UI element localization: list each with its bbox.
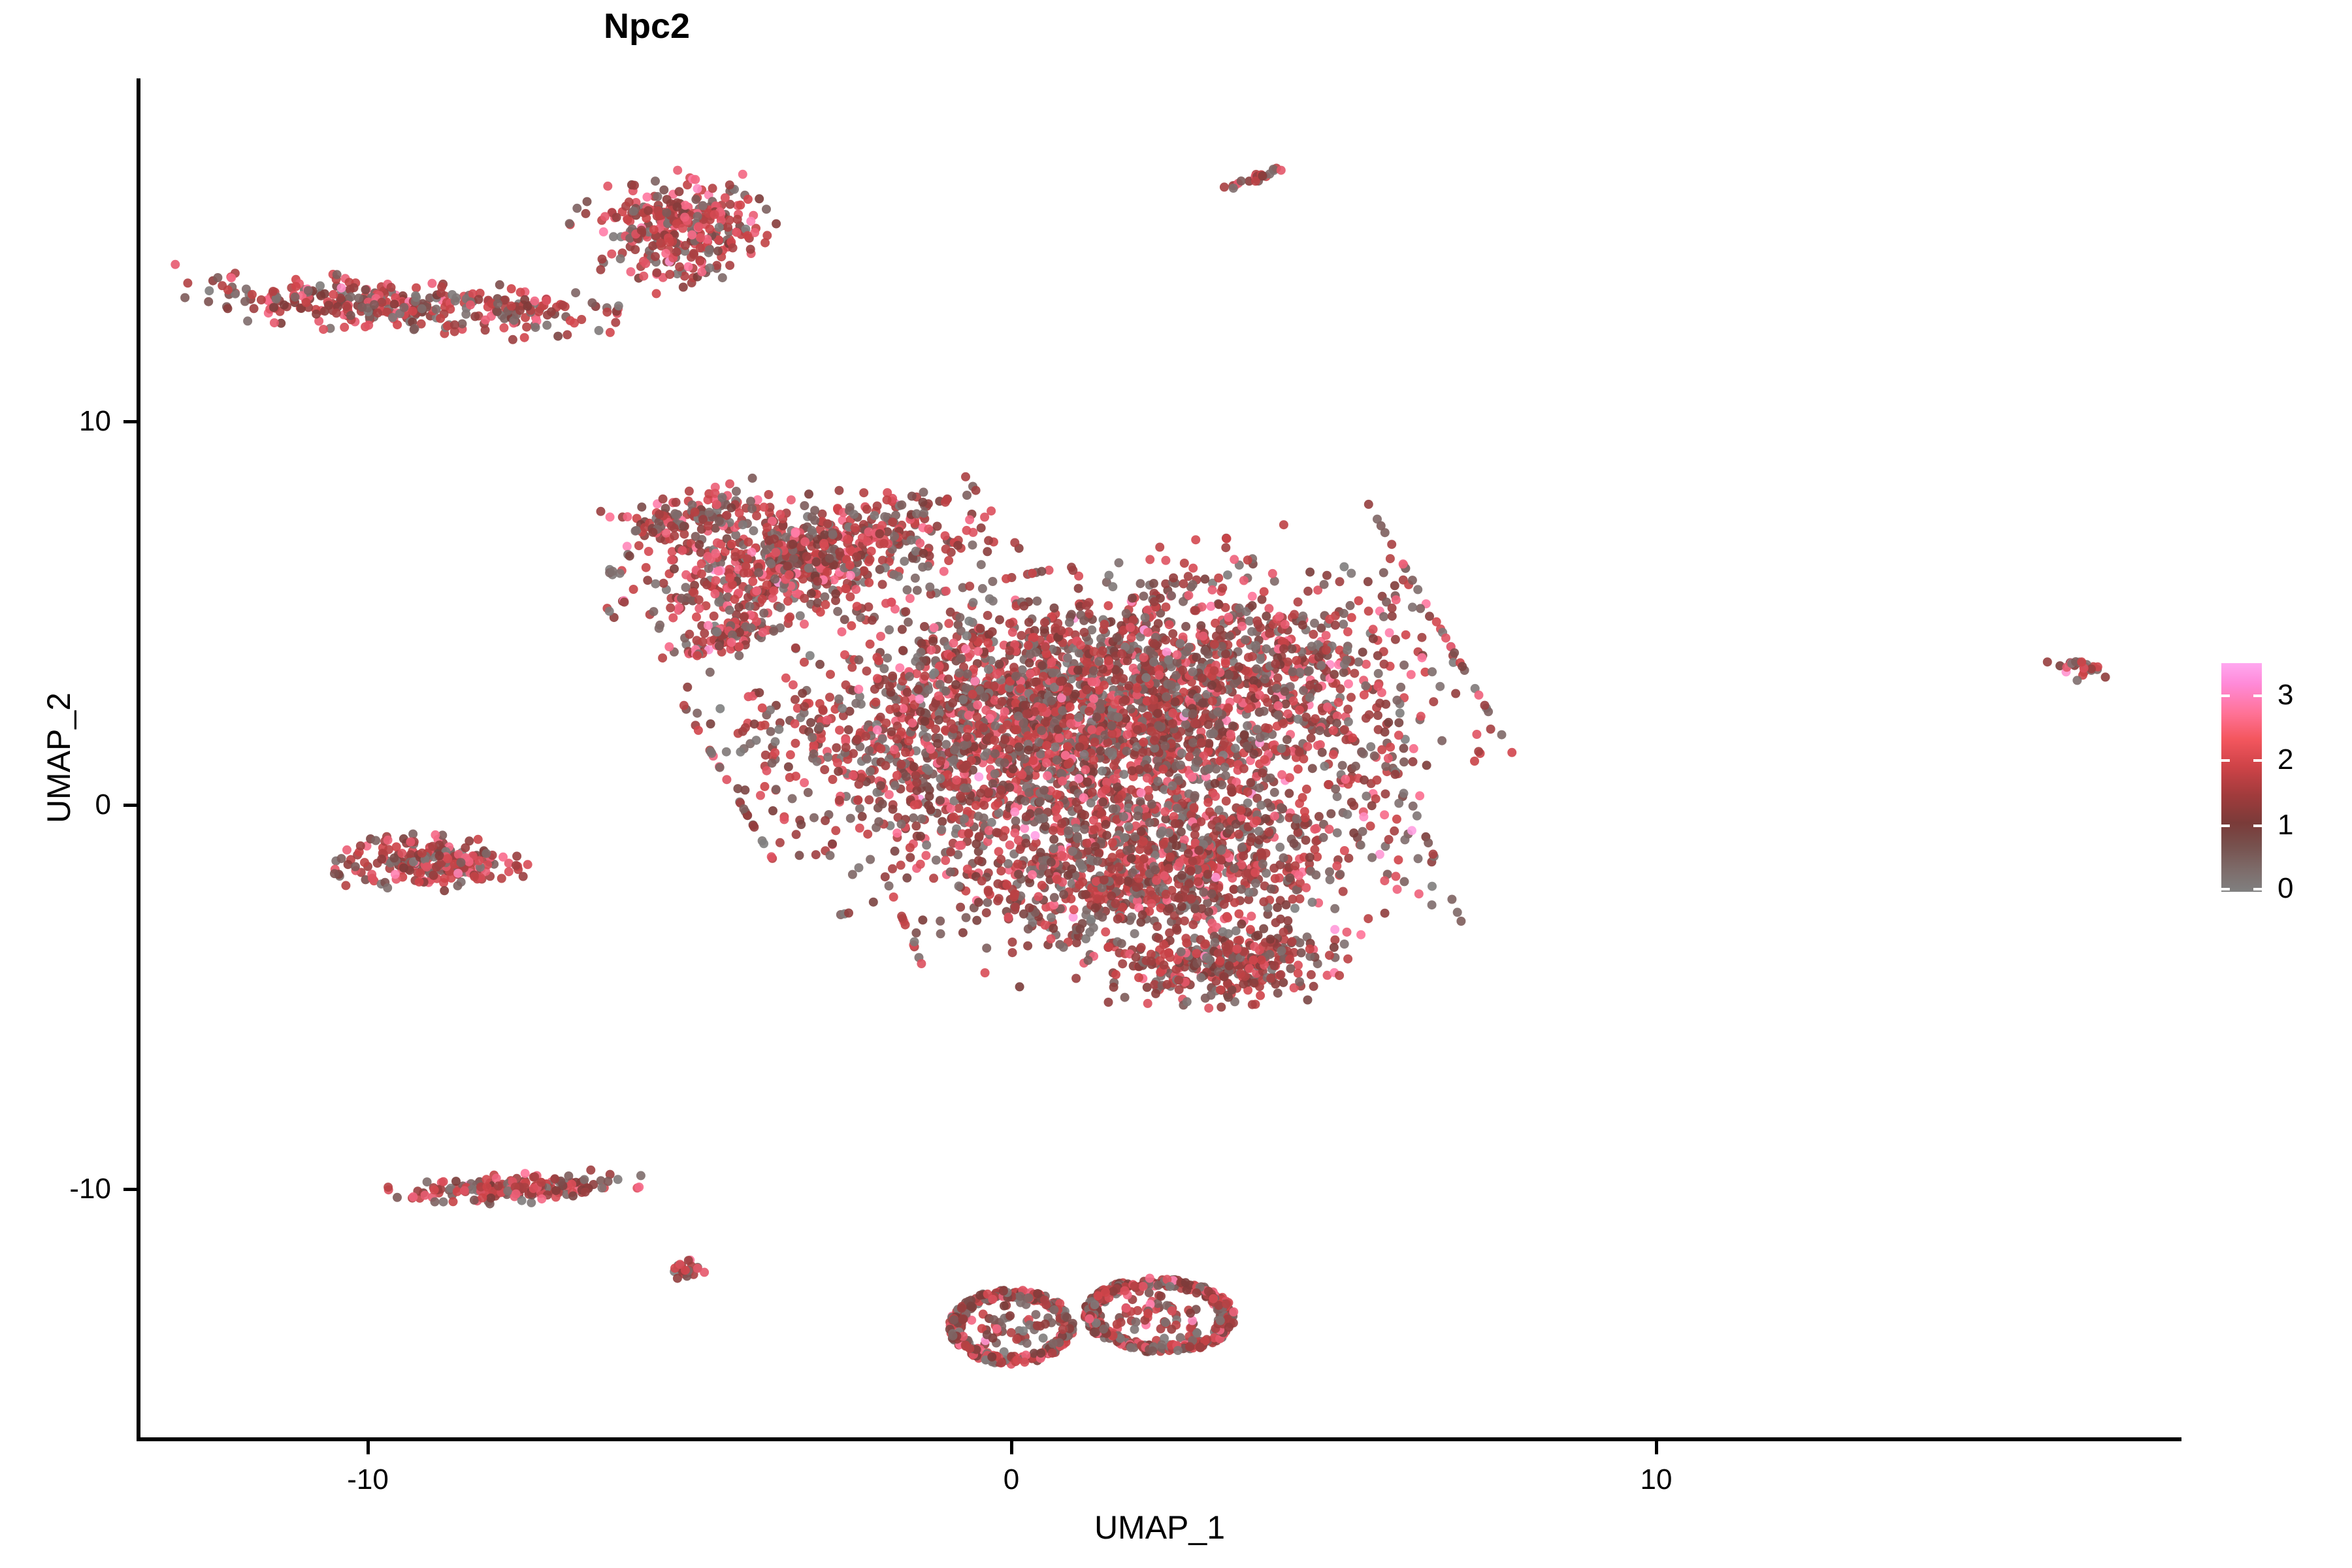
x-tick-label-0: 0 [913, 1465, 1109, 1494]
x-axis-line [137, 1437, 2181, 1441]
x-axis-title: UMAP_1 [140, 1509, 2179, 1546]
y-axis-title: UMAP_2 [41, 464, 77, 1052]
umap-feature-plot: Npc2 10 0 -10 -10 0 10 UMAP_1 UMAP_2 3 2… [0, 0, 2352, 1568]
legend-tick-2-left [2221, 759, 2230, 762]
y-tick-label-10: 10 [0, 407, 111, 436]
y-tick-mark--10 [123, 1188, 137, 1191]
y-tick-label--10: -10 [0, 1175, 111, 1203]
legend-label-2: 2 [2278, 745, 2293, 774]
legend-tick-0-right [2253, 888, 2262, 890]
x-tick-mark-0 [1010, 1441, 1013, 1454]
legend-label-3: 3 [2278, 681, 2293, 710]
legend-label-0: 0 [2278, 874, 2293, 903]
plot-panel [140, 78, 2179, 1441]
y-tick-mark-10 [123, 420, 137, 423]
legend-tick-3-right [2253, 694, 2262, 697]
legend-tick-3-left [2221, 694, 2230, 697]
x-tick-mark-10 [1655, 1441, 1658, 1454]
legend-tick-1-left [2221, 825, 2230, 827]
page-title: Npc2 [0, 7, 1823, 46]
legend-tick-1-right [2253, 825, 2262, 827]
scatter-points-layer [140, 78, 2179, 1441]
x-tick-label-10: 10 [1558, 1465, 1754, 1494]
legend-label-1: 1 [2278, 811, 2293, 840]
legend-tick-0-left [2221, 888, 2230, 890]
y-axis-line [137, 78, 140, 1441]
y-tick-mark-0 [123, 804, 137, 807]
legend-tick-2-right [2253, 759, 2262, 762]
x-tick-mark--10 [367, 1441, 370, 1454]
x-tick-label--10: -10 [270, 1465, 466, 1494]
color-legend: 3 2 1 0 [2221, 663, 2345, 905]
color-gradient-bar [2221, 663, 2262, 892]
